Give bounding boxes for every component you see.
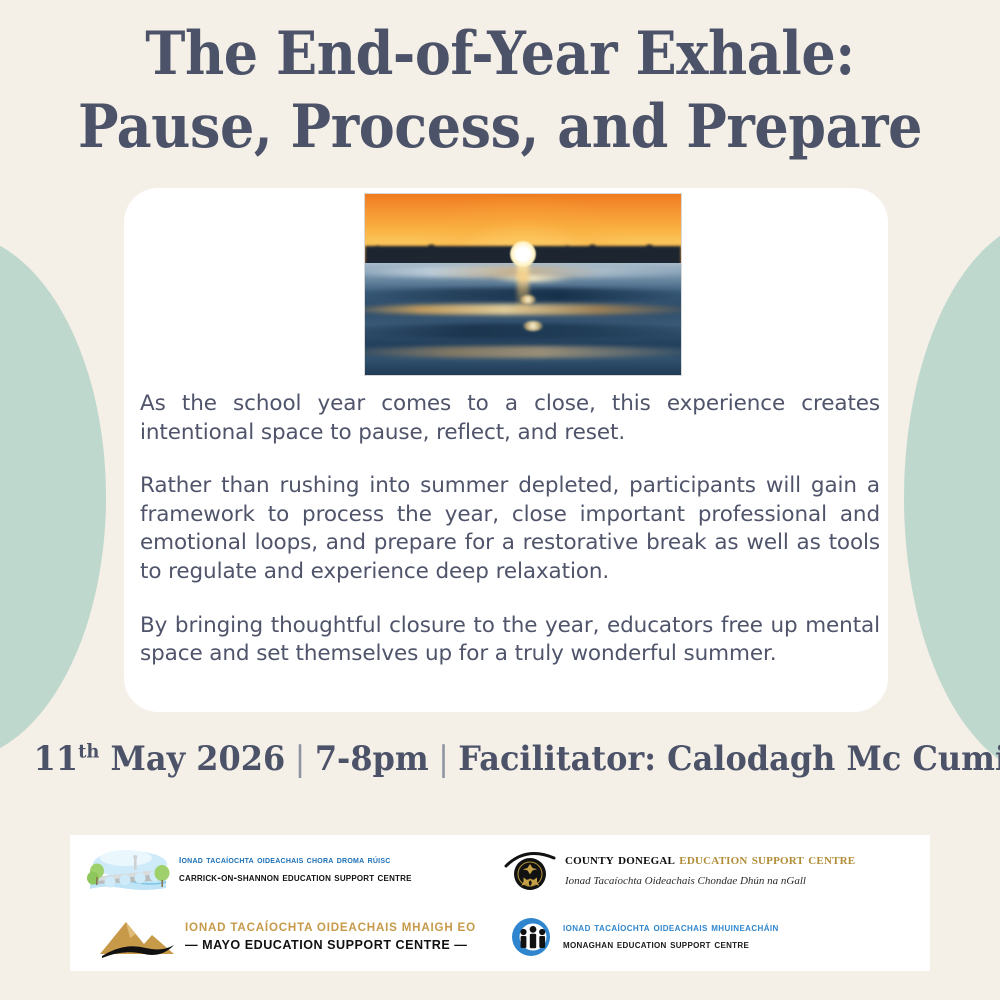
decorative-sage-ellipse-right: [904, 218, 1000, 778]
wave-highlight: [364, 346, 682, 358]
logo-mayo: IONAD TACAÍOCHTA OIDEACHAIS MHAIGH EO — …: [70, 914, 500, 960]
gold-mountain-icon: [98, 914, 176, 960]
decorative-sage-ellipse-left: [0, 233, 106, 761]
event-details: 11th May 2026|7-8pm|Facilitator: Calodag…: [0, 742, 1000, 776]
event-time: 7-8pm: [315, 739, 429, 779]
logo-donegal-line-irish: Ionad Tacaíochta Oideachais Chondae Dhún…: [565, 874, 855, 888]
sun-disc-icon: [510, 241, 536, 267]
detail-separator: |: [429, 739, 459, 779]
event-day-suffix: th: [78, 741, 99, 763]
blue-circle-figures-icon: [508, 914, 554, 960]
partner-logo-strip: Ionad Tacaíochta Oideachais Chora Droma …: [70, 835, 930, 971]
title-line-1: The End-of-Year Exhale:: [50, 18, 950, 91]
poster-canvas: The End-of-Year Exhale: Pause, Process, …: [0, 0, 1000, 1000]
body-copy: As the school year comes to a close, thi…: [140, 390, 880, 669]
event-day: 11: [34, 739, 78, 779]
detail-separator: |: [285, 739, 315, 779]
page-title: The End-of-Year Exhale: Pause, Process, …: [0, 18, 1000, 164]
paragraph-2: Rather than rushing into summer depleted…: [140, 472, 880, 586]
logo-mayo-line-irish: IONAD TACAÍOCHTA OIDEACHAIS MHAIGH EO: [185, 921, 476, 936]
logo-county-donegal: County Donegal Education Support Centre …: [500, 844, 930, 894]
logo-carrick-line-irish: Ionad Tacaíochta Oideachais Chora Droma …: [179, 852, 412, 867]
logo-carrick-on-shannon: Ionad Tacaíochta Oideachais Chora Droma …: [70, 844, 500, 894]
hero-sunset-image: [364, 193, 682, 376]
logo-monaghan-line-irish: Ionad Tacaíochta Oideachais Mhuineacháin: [563, 921, 779, 935]
donegal-circle-figures-icon: [504, 844, 556, 894]
sun-reflection-path: [517, 259, 529, 313]
logo-donegal-gold: Education Support Centre: [679, 851, 855, 868]
logo-donegal-line-english: County Donegal Education Support Centre: [565, 850, 855, 870]
event-facilitator: Facilitator: Calodagh Mc Cumiskey: [458, 739, 1000, 779]
title-line-2: Pause, Process, and Prepare: [50, 91, 950, 164]
logo-carrick-line-english: Carrick-On-Shannon Education Support Cen…: [179, 872, 412, 886]
water-sparkle: [523, 321, 543, 331]
event-month-year: May 2026: [99, 739, 285, 779]
logo-donegal-dark: County Donegal: [565, 851, 679, 868]
logo-monaghan: Ionad Tacaíochta Oideachais Mhuineacháin…: [500, 914, 930, 960]
paragraph-3: By bringing thoughtful closure to the ye…: [140, 612, 880, 669]
logo-mayo-line-english: — MAYO EDUCATION SUPPORT CENTRE —: [185, 937, 476, 953]
logo-monaghan-line-english: Monaghan Education Support Centre: [563, 938, 779, 953]
stone-bridge-icon: [84, 844, 170, 894]
paragraph-1: As the school year comes to a close, thi…: [140, 390, 880, 447]
